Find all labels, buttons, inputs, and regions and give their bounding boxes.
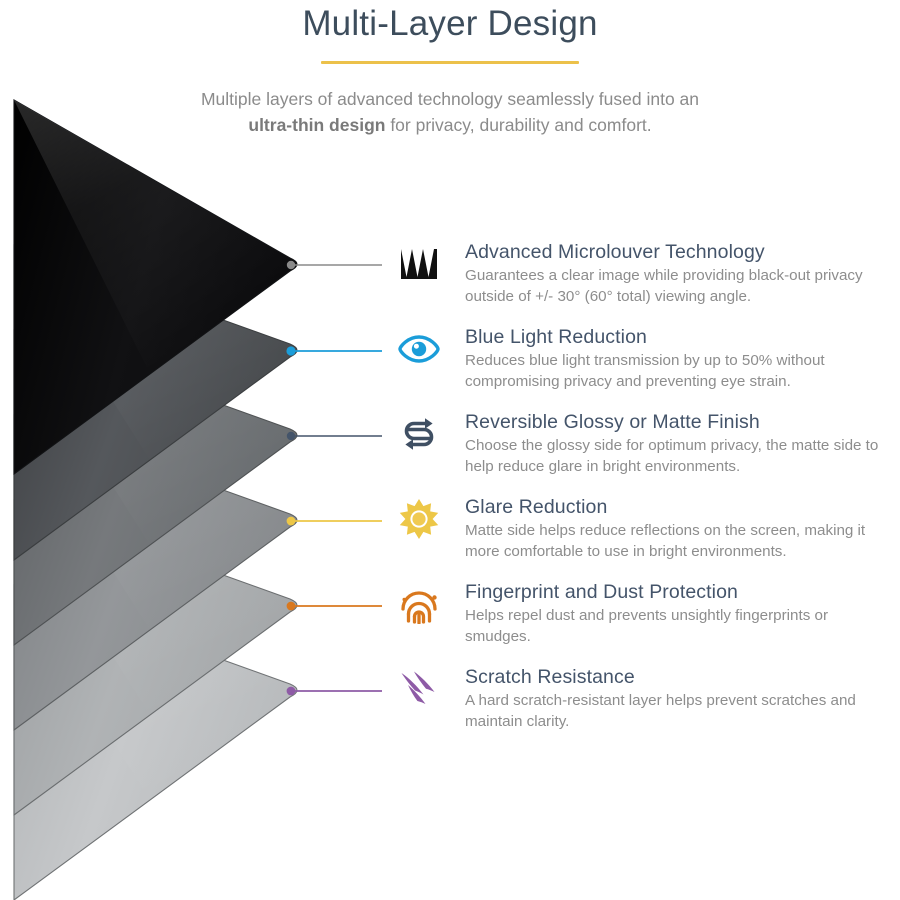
feature-item-reversible: Reversible Glossy or Matte Finish Choose… bbox=[393, 410, 893, 480]
feature-description: Helps repel dust and prevents unsightly … bbox=[465, 606, 893, 647]
feature-title: Scratch Resistance bbox=[465, 665, 893, 689]
feature-title: Blue Light Reduction bbox=[465, 325, 893, 349]
feature-title: Advanced Microlouver Technology bbox=[465, 240, 893, 264]
feature-description: Matte side helps reduce reflections on t… bbox=[465, 521, 893, 562]
reverse-arrows-icon bbox=[393, 412, 445, 456]
feature-item-blue-light: Blue Light Reduction Reduces blue light … bbox=[393, 325, 893, 395]
sun-icon bbox=[393, 497, 445, 541]
feature-item-scratch: Scratch Resistance A hard scratch-resist… bbox=[393, 665, 893, 735]
fingerprint-icon bbox=[393, 582, 445, 626]
microlouver-icon bbox=[393, 242, 445, 286]
eye-icon bbox=[393, 327, 445, 371]
feature-description: A hard scratch-resistant layer helps pre… bbox=[465, 691, 893, 732]
feature-item-fingerprint: Fingerprint and Dust Protection Helps re… bbox=[393, 580, 893, 650]
feature-list: Advanced Microlouver Technology Guarante… bbox=[393, 240, 893, 750]
feature-description: Guarantees a clear image while providing… bbox=[465, 266, 893, 307]
feature-item-microlouver: Advanced Microlouver Technology Guarante… bbox=[393, 240, 893, 310]
layer-stack-illustration bbox=[0, 0, 420, 900]
feature-title: Glare Reduction bbox=[465, 495, 893, 519]
scratch-icon bbox=[393, 667, 445, 711]
feature-title: Fingerprint and Dust Protection bbox=[465, 580, 893, 604]
subtitle-line-2: for privacy, durability and comfort. bbox=[385, 115, 651, 135]
feature-item-glare: Glare Reduction Matte side helps reduce … bbox=[393, 495, 893, 565]
feature-description: Reduces blue light transmission by up to… bbox=[465, 351, 893, 392]
feature-description: Choose the glossy side for optimum priva… bbox=[465, 436, 893, 477]
feature-title: Reversible Glossy or Matte Finish bbox=[465, 410, 893, 434]
